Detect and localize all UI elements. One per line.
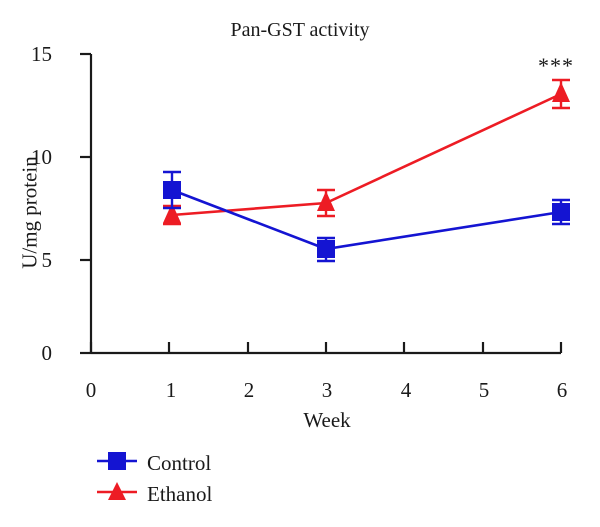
x-axis-ticks [91, 342, 561, 353]
square-marker-icon [552, 203, 570, 221]
y-axis-ticks [80, 54, 91, 353]
legend-marker-ethanol [97, 482, 137, 500]
square-marker-icon [108, 452, 126, 470]
plot-area [0, 0, 600, 527]
error-bars-ethanol [163, 80, 570, 224]
square-marker-icon [163, 181, 181, 199]
square-marker-icon [317, 240, 335, 258]
triangle-marker-icon [552, 82, 570, 102]
series-ethanol [163, 80, 570, 224]
legend-marker-control [97, 452, 137, 470]
chart-figure: Pan-GST activity U/mg protein Week *** 1… [0, 0, 600, 527]
